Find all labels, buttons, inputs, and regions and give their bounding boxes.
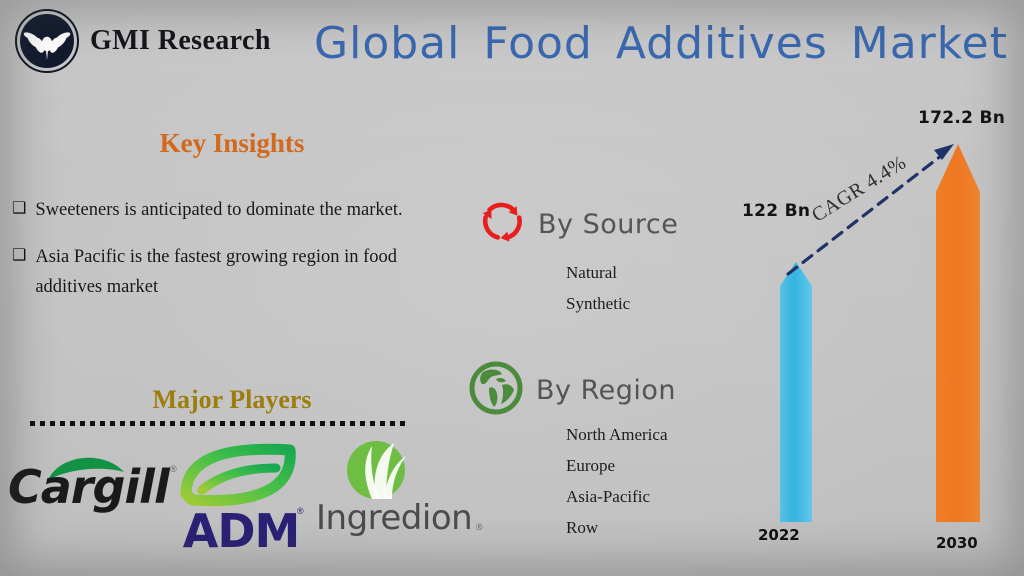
key-insights-heading: Key Insights: [140, 128, 324, 159]
list-item: Synthetic: [566, 294, 678, 314]
axis-label-2022: 2022: [758, 526, 800, 544]
list-item: ❑ Asia Pacific is the fastest growing re…: [12, 243, 464, 303]
bar-2030: [936, 144, 980, 522]
key-insights-list: ❑ Sweeteners is anticipated to dominate …: [12, 196, 464, 320]
axis-label-2030: 2030: [936, 534, 978, 552]
recycle-arrows-icon: [476, 196, 528, 253]
list-item: Asia-Pacific: [566, 487, 676, 507]
list-item: Row: [566, 518, 676, 538]
list-item-label: Sweeteners is anticipated to dominate th…: [35, 196, 464, 226]
trademark-symbol: ®: [297, 506, 304, 516]
list-item: Europe: [566, 456, 676, 476]
globe-icon: [466, 358, 526, 423]
segment-title: By Source: [538, 209, 678, 240]
brand-logo: GMI Research: [14, 8, 271, 74]
growth-bar-chart: 122 Bn 172.2 Bn CAGR 4.4% 2022 2030: [730, 96, 1024, 566]
page-title: Global Food Additives Market: [308, 18, 1014, 69]
list-item: North America: [566, 425, 676, 445]
segment-header: By Region: [466, 358, 676, 423]
company-logo-cargill: Cargill ®: [8, 446, 186, 512]
segment-by-region: By Region North America Europe Asia-Paci…: [466, 358, 676, 554]
section-divider: [30, 421, 406, 426]
major-players-logos: Cargill ® ADM ®: [0, 432, 500, 560]
company-logo-adm: ADM ®: [168, 442, 314, 554]
segment-by-source: By Source Natural Synthetic: [476, 196, 678, 330]
chart-bars: [730, 96, 1024, 536]
segment-header: By Source: [476, 196, 678, 253]
list-item: Natural: [566, 263, 678, 283]
list-item: ❑ Sweeteners is anticipated to dominate …: [12, 196, 464, 226]
gmi-shell-logo-icon: [14, 8, 80, 74]
ingredion-globe-leaf-icon: [332, 440, 424, 502]
segment-item-list: Natural Synthetic: [476, 263, 678, 314]
company-wordmark: Ingredion: [316, 498, 472, 538]
segment-title: By Region: [536, 375, 676, 406]
infographic-canvas: GMI Research Global Food Additives Marke…: [0, 0, 1024, 576]
company-wordmark: ADM: [176, 504, 306, 558]
list-item-label: Asia Pacific is the fastest growing regi…: [35, 243, 464, 303]
value-label-2030: 172.2 Bn: [918, 108, 1005, 128]
brand-name: GMI Research: [90, 25, 271, 57]
company-wordmark: Cargill: [8, 460, 169, 514]
segment-item-list: North America Europe Asia-Pacific Row: [466, 425, 676, 538]
value-label-2022: 122 Bn: [742, 201, 810, 221]
adm-leaf-icon: [168, 442, 314, 512]
bullet-square-icon: ❑: [12, 196, 26, 226]
bar-2022: [780, 262, 812, 522]
bullet-square-icon: ❑: [12, 243, 26, 303]
major-players-heading: Major Players: [128, 385, 336, 415]
